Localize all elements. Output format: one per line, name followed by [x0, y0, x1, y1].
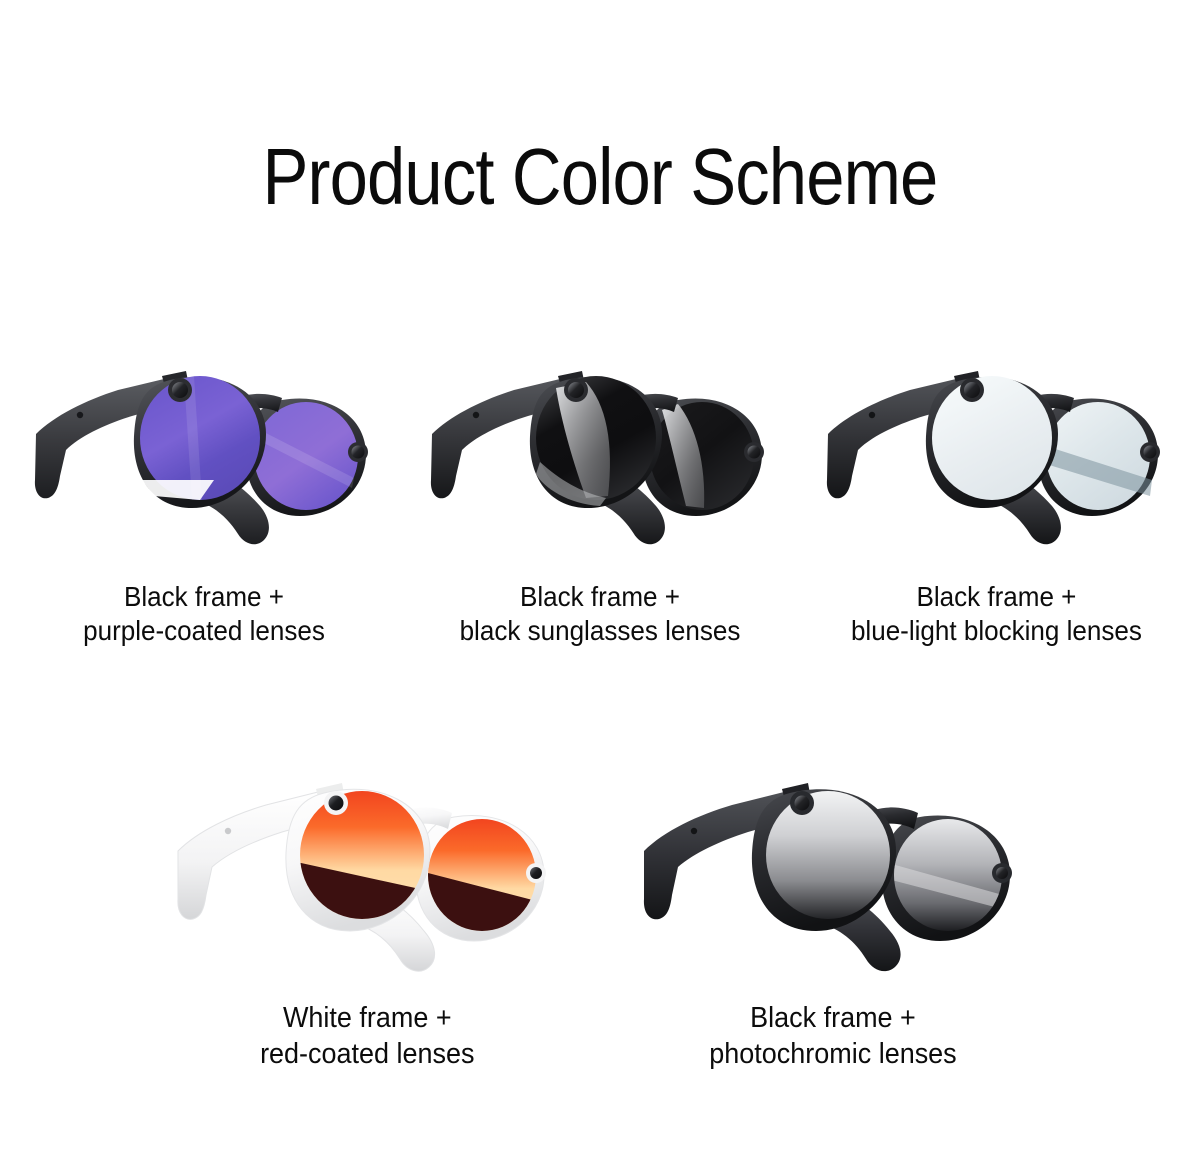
product-image-black-photochromic	[618, 735, 1048, 1000]
glasses-illustration	[618, 735, 1048, 1000]
camera-lens-right-icon	[748, 446, 761, 459]
mic-dot-icon	[225, 828, 231, 834]
mic-dot-icon	[473, 412, 479, 418]
product-row-top: Black frame + purple-coated lenses	[0, 330, 1200, 648]
camera-lens-icon	[964, 382, 980, 398]
glasses-illustration	[410, 330, 790, 580]
product-image-black-purple	[14, 330, 394, 580]
product-card-white-red: White frame + red-coated lenses	[152, 735, 582, 1072]
camera-lens-icon	[329, 796, 344, 811]
product-card-black-photochromic: Black frame + photochromic lenses	[618, 735, 1048, 1072]
mic-dot-icon	[691, 828, 697, 834]
camera-lens-right-icon	[1144, 446, 1157, 459]
lens-left	[766, 791, 890, 919]
caption-line-2: blue-light blocking lenses	[851, 614, 1142, 648]
product-caption: White frame + red-coated lenses	[260, 1000, 474, 1072]
camera-lens-icon	[172, 382, 188, 398]
product-card-black-bluelight: Black frame + blue-light blocking lenses	[806, 330, 1186, 648]
camera-lens-right-icon	[996, 867, 1008, 879]
lens-left	[932, 376, 1052, 500]
glasses-illustration	[14, 330, 394, 580]
caption-line-2: black sunglasses lenses	[460, 614, 741, 648]
caption-line-1: Black frame +	[460, 580, 741, 614]
mic-dot-icon	[77, 412, 83, 418]
caption-line-2: red-coated lenses	[260, 1036, 474, 1072]
product-image-white-red	[152, 735, 582, 1000]
product-image-black-sunglasses	[410, 330, 790, 580]
camera-lens-icon	[568, 382, 584, 398]
product-color-scheme-page: Product Color Scheme	[0, 0, 1200, 1173]
caption-line-1: Black frame +	[709, 1000, 956, 1036]
caption-line-2: photochromic lenses	[709, 1036, 956, 1072]
product-caption: Black frame + blue-light blocking lenses	[851, 580, 1142, 648]
caption-line-1: Black frame +	[83, 580, 325, 614]
page-title: Product Color Scheme	[84, 131, 1116, 223]
glasses-illustration	[806, 330, 1186, 580]
camera-lens-right-icon	[352, 446, 365, 459]
caption-line-1: Black frame +	[851, 580, 1142, 614]
product-caption: Black frame + black sunglasses lenses	[460, 580, 741, 648]
product-image-black-bluelight	[806, 330, 1186, 580]
product-card-black-purple: Black frame + purple-coated lenses	[14, 330, 394, 648]
camera-lens-right-icon	[530, 867, 542, 879]
caption-line-1: White frame +	[260, 1000, 474, 1036]
caption-line-2: purple-coated lenses	[83, 614, 325, 648]
glasses-illustration	[152, 735, 582, 1000]
product-caption: Black frame + purple-coated lenses	[83, 580, 325, 648]
product-caption: Black frame + photochromic lenses	[709, 1000, 956, 1072]
product-card-black-sunglasses: Black frame + black sunglasses lenses	[410, 330, 790, 648]
mic-dot-icon	[869, 412, 875, 418]
camera-lens-icon	[795, 796, 810, 811]
product-row-bottom: White frame + red-coated lenses	[0, 735, 1200, 1072]
